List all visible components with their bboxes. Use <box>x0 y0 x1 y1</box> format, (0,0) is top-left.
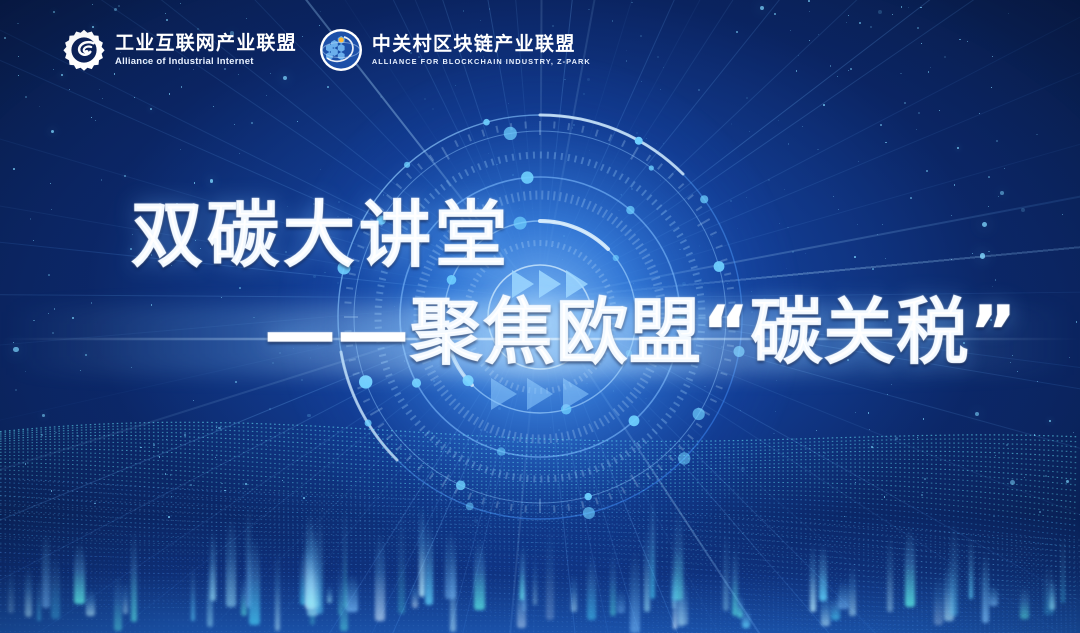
logo-alliance-for-blockchain-industry: 中关村区块链产业联盟 ALLIANCE FOR BLOCKCHAIN INDUS… <box>319 28 591 72</box>
center-core-glow <box>280 57 800 577</box>
header-logo-row: 工业互联网产业联盟 Alliance of Industrial Interne… <box>62 28 591 72</box>
logo-alliance-of-industrial-internet: 工业互联网产业联盟 Alliance of Industrial Interne… <box>62 28 297 72</box>
gear-swirl-logo-icon <box>62 28 106 72</box>
radial-light-rays-graphic <box>0 0 1080 633</box>
particle-wave-mesh-graphic <box>0 403 1080 633</box>
page-title: 双碳大讲堂 <box>131 176 511 281</box>
logo-cn-name: 中关村区块链产业联盟 <box>372 35 591 54</box>
poster-canvas: 工业互联网产业联盟 Alliance of Industrial Interne… <box>0 0 1080 633</box>
logo-en-name: ALLIANCE FOR BLOCKCHAIN INDUSTRY, Z-PARK <box>372 58 591 65</box>
horizontal-light-beam <box>0 305 1080 375</box>
star-particles-graphic <box>0 0 1080 633</box>
logo-cn-name: 工业互联网产业联盟 <box>115 34 297 53</box>
vignette-overlay <box>0 0 1080 633</box>
logo-en-name: Alliance of Industrial Internet <box>115 57 297 67</box>
concentric-tech-rings-graphic <box>305 82 775 552</box>
bottom-sky-glow <box>0 513 1080 633</box>
blockchain-globe-logo-icon <box>319 28 363 72</box>
page-subtitle: ——聚焦欧盟“碳关税” <box>264 273 1018 378</box>
horizontal-beam-line <box>0 338 1080 340</box>
